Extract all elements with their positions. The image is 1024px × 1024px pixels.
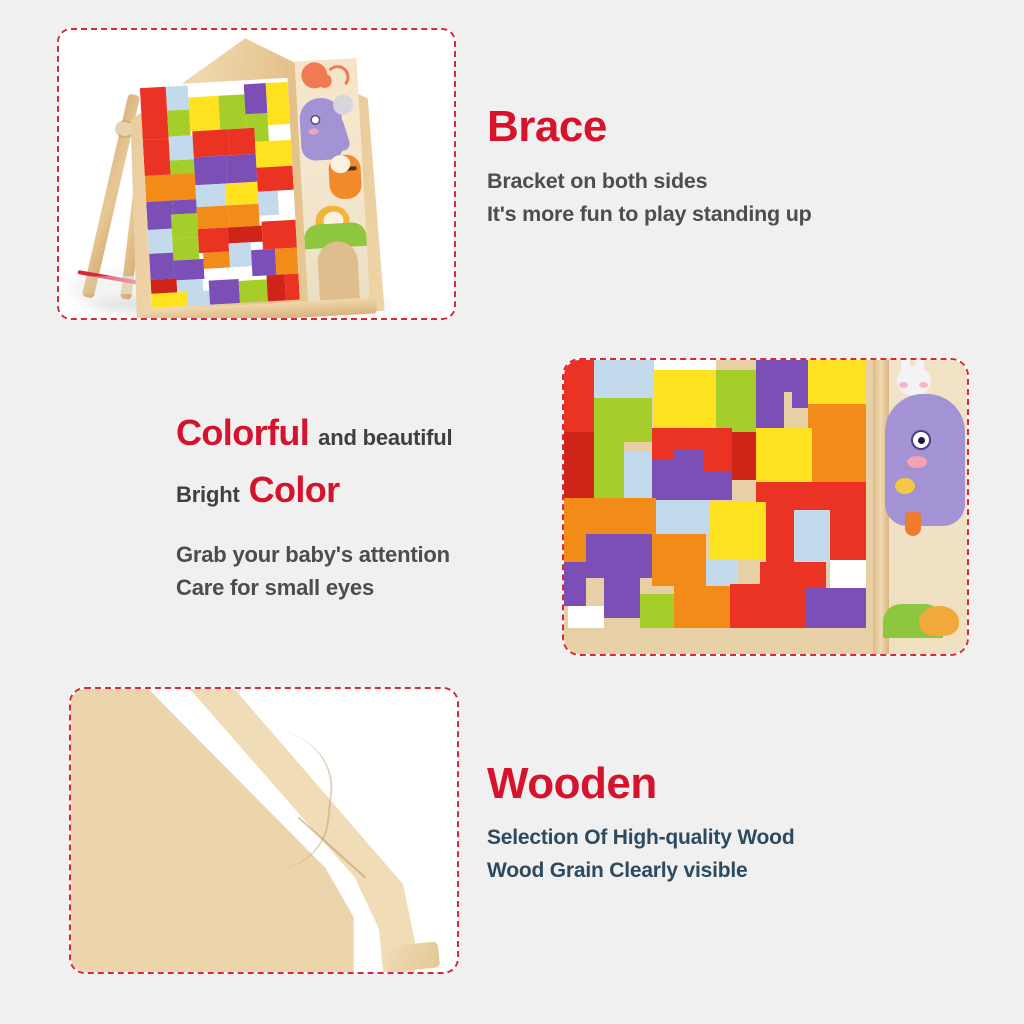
- tetris-piece: [656, 500, 710, 534]
- tetris-piece: [258, 191, 279, 216]
- tetris-piece: [640, 594, 674, 628]
- tetris-piece: [140, 87, 169, 140]
- bunny-ear-left: [901, 360, 910, 374]
- tetris-piece: [172, 237, 199, 260]
- tetris-piece: [171, 213, 198, 238]
- tetris-piece: [830, 518, 866, 560]
- tetris-piece: [586, 534, 652, 578]
- tetris-piece: [732, 432, 756, 480]
- tetris-piece: [151, 292, 188, 308]
- tetris-piece: [172, 199, 197, 214]
- subtext-line: It's more fun to play standing up: [487, 198, 957, 231]
- tetris-piece: [766, 518, 794, 562]
- monkey-tail: [325, 64, 350, 89]
- tetris-piece: [808, 404, 866, 460]
- text-block-colorful: Colorfuland beautiful BrightColor Grab y…: [176, 415, 536, 604]
- tetris-piece: [151, 278, 178, 293]
- headline-colorful-line1: Colorfuland beautiful: [176, 415, 536, 451]
- tetris-piece: [706, 560, 738, 586]
- tetris-piece: [564, 562, 586, 606]
- tetris-piece: [228, 226, 263, 244]
- photo-colorful: [564, 360, 967, 654]
- tetris-piece: [564, 360, 594, 432]
- subtext-wooden: Selection Of High-quality Wood Wood Grai…: [487, 822, 957, 887]
- tetris-piece: [604, 578, 640, 618]
- tetris-piece: [594, 442, 624, 498]
- tetris-piece: [169, 135, 194, 160]
- tetris-piece: [148, 229, 173, 254]
- tetris-piece: [266, 274, 286, 303]
- subtext-line: Care for small eyes: [176, 571, 536, 604]
- carrot-illustration: [905, 512, 921, 536]
- bunny-cheek-left: [899, 382, 908, 388]
- tetris-piece: [654, 370, 716, 432]
- tetris-piece: [197, 205, 230, 229]
- elephant-pupil: [918, 437, 925, 444]
- tetris-piece: [167, 109, 190, 136]
- tetris-piece: [261, 220, 297, 250]
- tetris-piece: [256, 166, 293, 192]
- tetris-piece: [830, 560, 866, 588]
- tetris-piece: [564, 432, 594, 498]
- tetris-piece: [812, 460, 866, 484]
- bunny-ear-right: [915, 360, 924, 374]
- tetris-piece: [794, 536, 830, 562]
- tetris-piece: [756, 360, 792, 392]
- tetris-piece: [266, 82, 290, 125]
- headline-word-and-beautiful: and beautiful: [318, 425, 452, 450]
- tetris-piece: [145, 173, 196, 202]
- photo-panel-colorful: [562, 358, 969, 656]
- board-arch-cutout: [317, 240, 360, 300]
- turtle-illustration: [919, 606, 959, 636]
- tetris-piece: [225, 182, 258, 206]
- tetris-piece: [255, 140, 292, 168]
- tetris-puzzle-area: [140, 78, 300, 308]
- tetris-piece: [730, 584, 760, 628]
- tetris-piece: [594, 360, 624, 398]
- wood-panel-foot: [384, 941, 440, 972]
- tetris-piece: [226, 154, 258, 184]
- tetris-piece: [203, 251, 230, 268]
- tetris-piece: [794, 510, 830, 536]
- tetris-piece: [806, 588, 866, 628]
- tetris-piece: [149, 253, 174, 280]
- tetris-piece: [674, 450, 704, 472]
- puzzle-board-frame: [121, 31, 384, 318]
- tetris-closeup-grid: [564, 360, 904, 654]
- headline-word-bright: Bright: [176, 482, 240, 507]
- subtext-line: Bracket on both sides: [487, 165, 957, 198]
- animal-illustration-strip-closeup: [889, 360, 967, 654]
- tetris-piece: [229, 242, 252, 267]
- tetris-piece: [760, 606, 806, 628]
- subtext-brace: Bracket on both sides It's more fun to p…: [487, 165, 957, 230]
- monkey-illustration: [301, 62, 328, 89]
- tetris-piece: [808, 360, 866, 404]
- tetris-piece: [228, 128, 255, 155]
- headline-brace: Brace: [487, 105, 957, 149]
- tetris-piece: [244, 83, 268, 114]
- infographic-page: Brace Bracket on both sides It's more fu…: [0, 0, 1024, 1024]
- tetris-piece: [654, 360, 716, 370]
- bird-illustration: [895, 478, 915, 494]
- elephant-cheek: [907, 456, 927, 468]
- wood-grain-photo: [71, 689, 457, 972]
- tetris-piece: [173, 259, 204, 281]
- tetris-piece: [792, 360, 808, 408]
- tetris-piece: [188, 96, 220, 132]
- photo-brace: [59, 30, 454, 318]
- tetris-piece: [228, 204, 259, 228]
- tetris-piece: [756, 428, 812, 482]
- photo-panel-brace: [57, 28, 456, 320]
- photo-wooden: [71, 689, 457, 972]
- tetris-piece: [198, 227, 229, 253]
- subtext-line: Wood Grain Clearly visible: [487, 855, 957, 888]
- headline-colorful-line2: BrightColor: [176, 472, 536, 508]
- tetris-piece: [251, 249, 276, 276]
- tetris-piece: [209, 279, 240, 307]
- tetris-piece: [716, 370, 756, 432]
- subtext-line: Selection Of High-quality Wood: [487, 822, 957, 855]
- tetris-piece: [143, 139, 171, 176]
- koala-illustration: [333, 94, 354, 115]
- tetris-piece: [278, 190, 296, 221]
- tetris-piece: [624, 360, 654, 398]
- photo-panel-wooden: [69, 687, 459, 974]
- headline-wooden: Wooden: [487, 762, 957, 806]
- easel-product-photo: [59, 30, 454, 318]
- tetris-piece: [674, 586, 730, 628]
- tetris-piece: [146, 201, 174, 230]
- tetris-piece: [652, 534, 706, 586]
- tetris-piece: [568, 606, 604, 628]
- tetris-piece: [674, 472, 732, 500]
- tetris-piece: [284, 274, 299, 303]
- text-block-wooden: Wooden Selection Of High-quality Wood Wo…: [487, 762, 957, 887]
- tetris-piece: [594, 398, 652, 442]
- text-block-brace: Brace Bracket on both sides It's more fu…: [487, 105, 957, 230]
- tetris-piece: [194, 155, 228, 185]
- tetris-piece: [192, 129, 229, 157]
- tetris-piece: [195, 184, 226, 208]
- tetris-piece: [275, 248, 298, 275]
- tetris-piece: [239, 279, 268, 305]
- tetris-piece: [710, 502, 766, 560]
- tetris-piece: [166, 85, 189, 110]
- headline-word-colorful: Colorful: [176, 412, 309, 453]
- puzzle-closeup-photo: [564, 360, 967, 654]
- tetris-piece: [594, 498, 656, 534]
- bunny-cheek-right: [919, 382, 928, 388]
- subtext-line: Grab your baby's attention: [176, 538, 536, 571]
- headline-word-color: Color: [249, 469, 340, 510]
- tetris-piece: [652, 460, 674, 500]
- tetris-piece: [218, 94, 246, 129]
